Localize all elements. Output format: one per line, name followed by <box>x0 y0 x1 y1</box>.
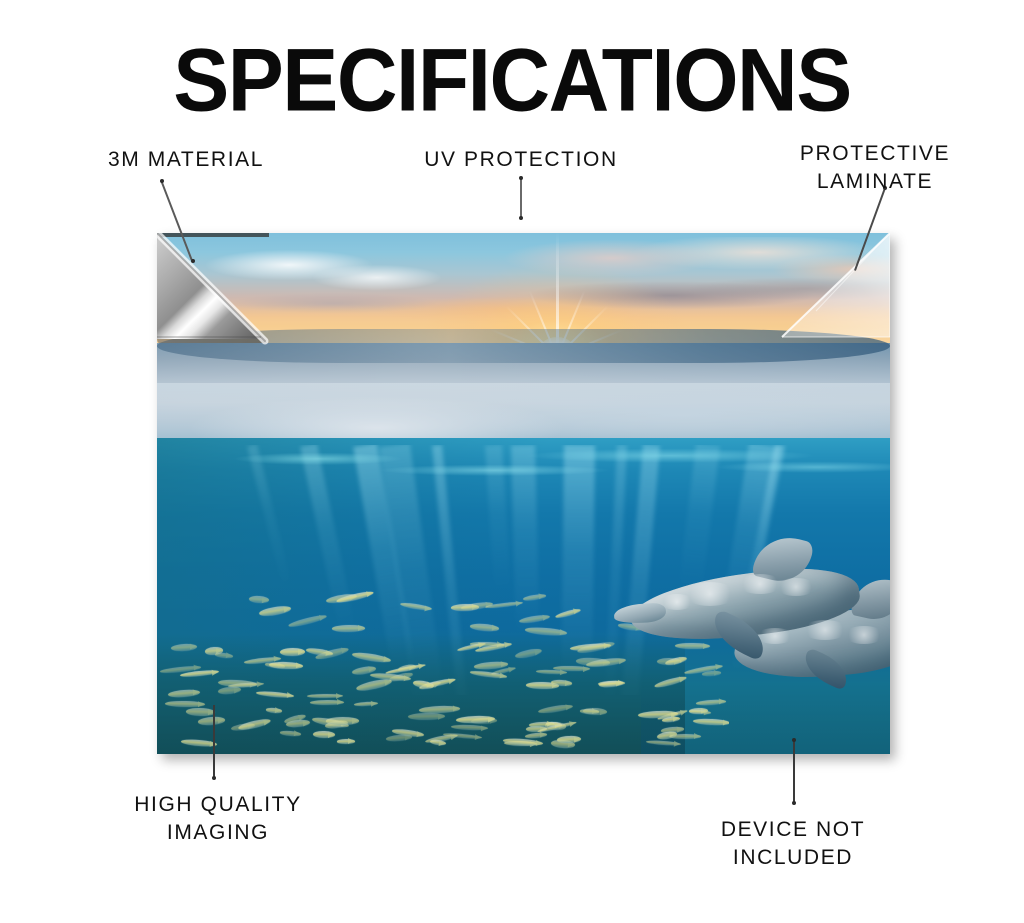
leader-dot-uv-protection-end <box>519 216 523 220</box>
page-title: SPECIFICATIONS <box>0 34 1024 125</box>
leader-dot-device-not-end <box>792 801 796 805</box>
callout-label-device-not-included: DEVICE NOT INCLUDED <box>643 816 943 872</box>
product-photo-skin <box>157 233 890 754</box>
callout-label-3m-material: 3M MATERIAL <box>36 146 336 174</box>
leader-line-device-not-included <box>793 740 795 804</box>
leader-dot-3m-material-end <box>191 259 195 263</box>
callout-label-protective-laminate: PROTECTIVE LAMINATE <box>740 140 1010 196</box>
underwater-layer <box>157 438 890 754</box>
leader-dot-high-quality-end <box>212 776 216 780</box>
leader-line-high-quality-imaging <box>213 705 215 779</box>
sky-layer <box>157 233 890 353</box>
leader-dot-device-not-start <box>792 738 796 742</box>
leader-line-uv-protection <box>520 178 522 219</box>
leader-dot-3m-material-start <box>160 179 164 183</box>
callout-label-high-quality-imaging: HIGH QUALITY IMAGING <box>46 791 390 847</box>
callout-label-uv-protection: UV PROTECTION <box>371 146 671 174</box>
leader-dot-uv-protection-start <box>519 176 523 180</box>
